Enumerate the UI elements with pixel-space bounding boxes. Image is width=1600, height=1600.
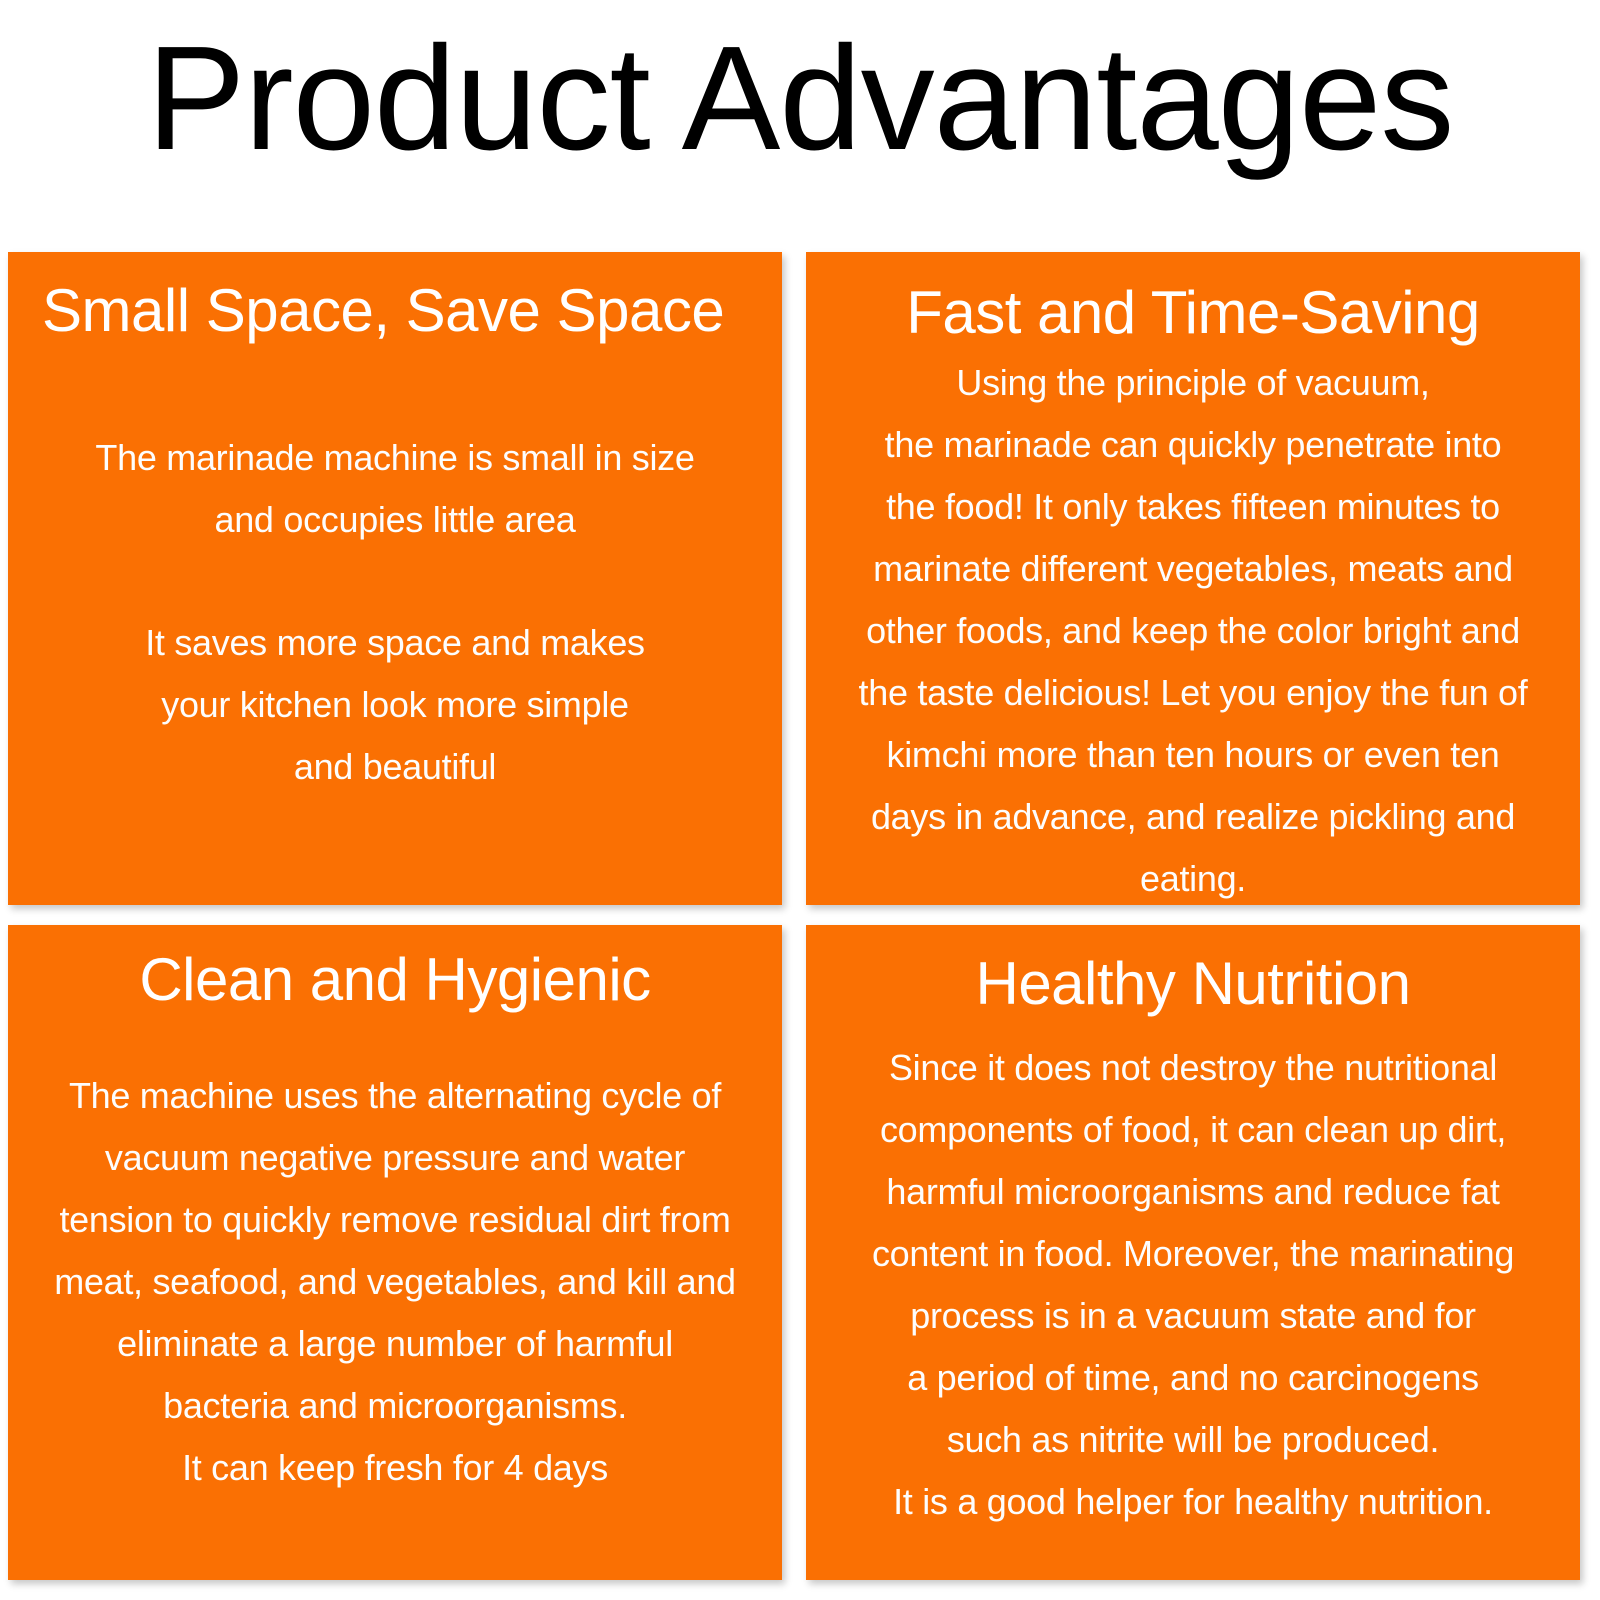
card-content: Healthy Nutrition Since it does not dest… (806, 925, 1580, 1580)
card-heading: Clean and Hygienic (8, 943, 782, 1017)
advantages-grid: Small Space, Save Space The marinade mac… (8, 252, 1580, 1580)
page-title: Product Advantages (0, 14, 1600, 184)
card-body-paragraph-1: Since it does not destroy the nutritiona… (794, 1037, 1592, 1533)
advantage-card-small-space-save-space[interactable]: Small Space, Save Space The marinade mac… (8, 252, 782, 905)
body-line: days in advance, and realize pickling an… (784, 786, 1600, 848)
body-line: other foods, and keep the color bright a… (784, 600, 1600, 662)
card-body-paragraph-1: Using the principle of vacuum,the marina… (784, 352, 1600, 910)
card-body-paragraph-2: It saves more space and makesyour kitche… (8, 612, 782, 798)
body-line: Since it does not destroy the nutritiona… (794, 1037, 1592, 1099)
body-line: kimchi more than ten hours or even ten (784, 724, 1600, 786)
card-heading: Fast and Time-Saving (806, 276, 1580, 350)
card-content: Clean and Hygienic The machine uses the … (8, 925, 782, 1580)
body-line: Using the principle of vacuum, (784, 352, 1600, 414)
card-heading: Small Space, Save Space (42, 274, 724, 348)
body-line: It saves more space and makes (8, 612, 782, 674)
body-line: components of food, it can clean up dirt… (794, 1099, 1592, 1161)
body-line: It is a good helper for healthy nutritio… (794, 1471, 1592, 1533)
card-content: Fast and Time-Saving Using the principle… (806, 252, 1580, 905)
body-line: eating. (784, 848, 1600, 910)
body-line: content in food. Moreover, the marinatin… (794, 1223, 1592, 1285)
advantage-card-clean-and-hygienic[interactable]: Clean and Hygienic The machine uses the … (8, 925, 782, 1580)
body-line: tension to quickly remove residual dirt … (0, 1189, 796, 1251)
card-content: Small Space, Save Space The marinade mac… (8, 252, 782, 905)
card-heading: Healthy Nutrition (806, 947, 1580, 1021)
advantage-card-healthy-nutrition[interactable]: Healthy Nutrition Since it does not dest… (806, 925, 1580, 1580)
body-line: eliminate a large number of harmful (0, 1313, 796, 1375)
body-line: and occupies little area (8, 489, 782, 551)
body-line: The marinade machine is small in size (8, 427, 782, 489)
body-line: your kitchen look more simple (8, 674, 782, 736)
body-line: vacuum negative pressure and water (0, 1127, 796, 1189)
body-line: and beautiful (8, 736, 782, 798)
body-line: such as nitrite will be produced. (794, 1409, 1592, 1471)
body-line: The machine uses the alternating cycle o… (0, 1065, 796, 1127)
advantage-card-fast-and-time-saving[interactable]: Fast and Time-Saving Using the principle… (806, 252, 1580, 905)
card-body-paragraph-1: The machine uses the alternating cycle o… (0, 1065, 796, 1499)
body-line: process is in a vacuum state and for (794, 1285, 1592, 1347)
body-line: meat, seafood, and vegetables, and kill … (0, 1251, 796, 1313)
body-line: marinate different vegetables, meats and (784, 538, 1600, 600)
card-body-paragraph-1: The marinade machine is small in sizeand… (8, 427, 782, 551)
body-line: It can keep fresh for 4 days (0, 1437, 796, 1499)
body-line: the taste delicious! Let you enjoy the f… (784, 662, 1600, 724)
body-line: harmful microorganisms and reduce fat (794, 1161, 1592, 1223)
body-line: the food! It only takes fifteen minutes … (784, 476, 1600, 538)
body-line: bacteria and microorganisms. (0, 1375, 796, 1437)
body-line: a period of time, and no carcinogens (794, 1347, 1592, 1409)
body-line: the marinade can quickly penetrate into (784, 414, 1600, 476)
